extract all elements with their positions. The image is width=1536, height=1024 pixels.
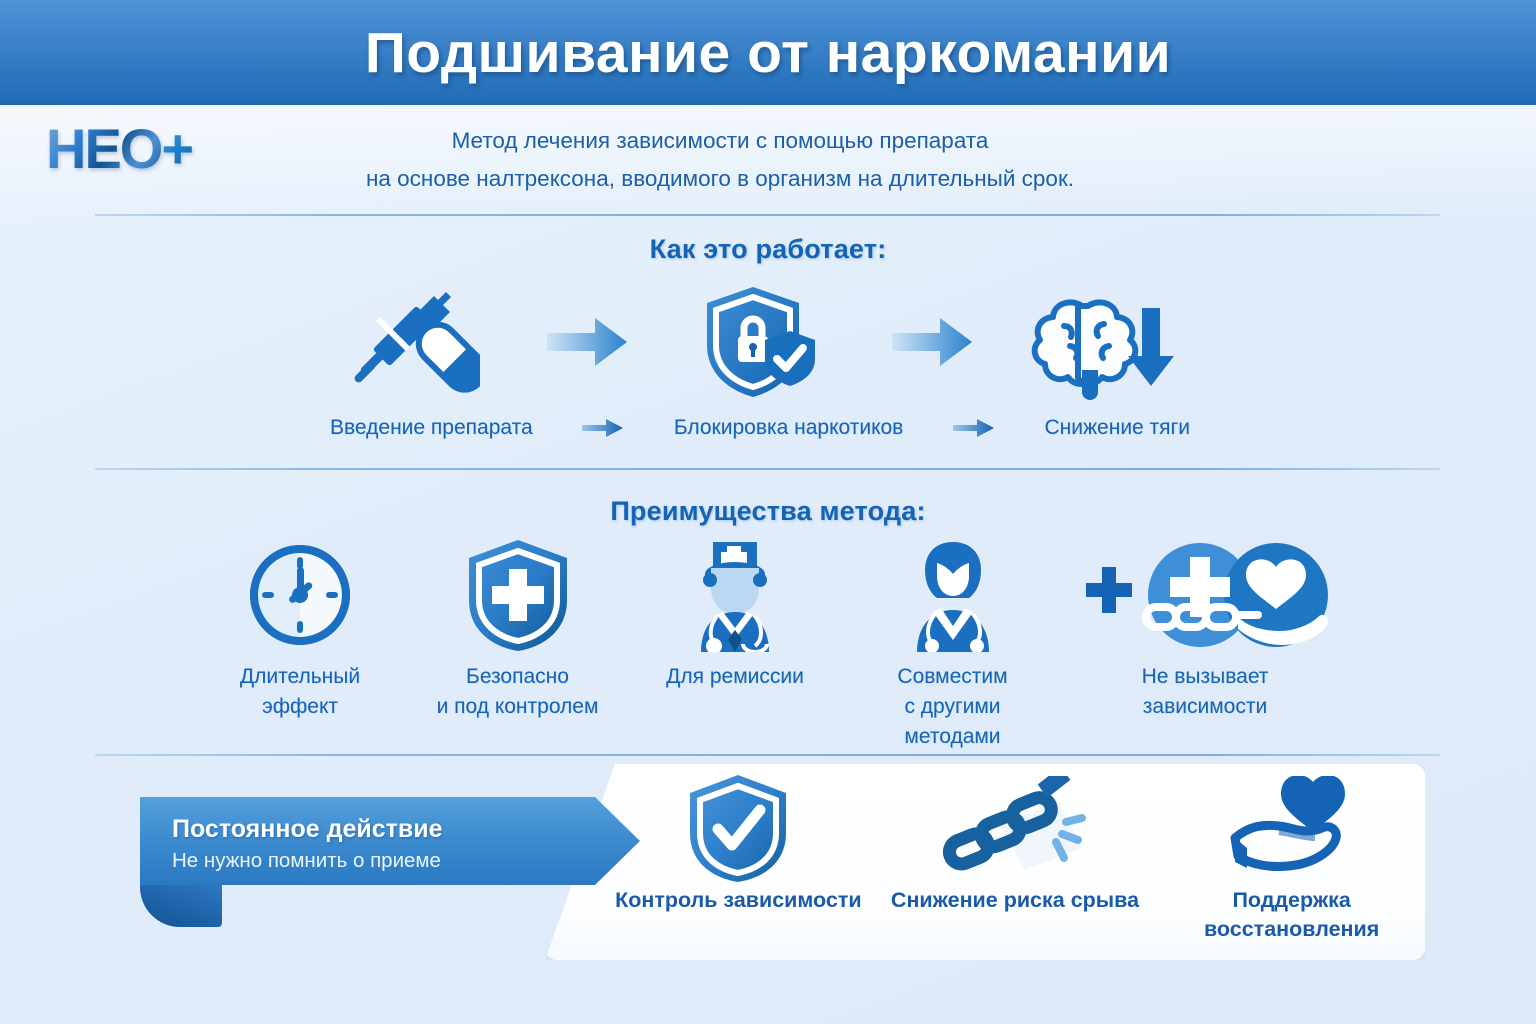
how-step-label-3: Снижение тяги (1045, 416, 1190, 440)
benefit-caption-2b: и под контролем (437, 692, 599, 722)
benefit-item-safety: Безопасно и под контролем (418, 540, 618, 722)
shield-lock-icon (685, 283, 835, 401)
panel-item-risk: Снижение риска срыва (890, 775, 1140, 915)
panel-item-control: Контроль зависимости (613, 775, 863, 915)
ribbon-tail (140, 885, 222, 927)
brain-down-arrow-icon (1030, 283, 1180, 401)
benefit-caption-5a: Не вызывает (1142, 662, 1269, 692)
chain-heart-circles-icon (1080, 540, 1330, 650)
benefit-caption-5b: зависимости (1142, 692, 1269, 722)
benefit-caption-4c: методами (897, 722, 1007, 752)
ribbon-title: Постоянное действие (172, 813, 592, 846)
label-arrow-1-icon (580, 418, 626, 438)
doctor-icon (683, 540, 787, 650)
panel-caption-2: Снижение риска срыва (891, 886, 1139, 915)
intro-text: Метод лечения зависимости с помощью преп… (300, 122, 1140, 198)
benefit-caption-2a: Безопасно (437, 662, 599, 692)
logo-word: НЕО (46, 118, 161, 180)
benefit-caption-3: Для ремиссии (666, 662, 804, 692)
intro-line-2: на основе налтрексона, вводимого в орган… (300, 160, 1140, 198)
panel-caption-3a: Поддержка (1204, 886, 1379, 915)
divider-2 (95, 468, 1440, 470)
benefit-caption-4a: Совместим (897, 662, 1007, 692)
benefit-item-remission: Для ремиссии (635, 540, 835, 692)
how-it-works-title: Как это работает: (0, 234, 1536, 265)
hand-heart-icon (1229, 775, 1355, 880)
syringe-pill-icon (340, 283, 490, 401)
ribbon-text: Постоянное действие Не нужно помнить о п… (172, 813, 592, 876)
how-it-works-icons (340, 282, 1180, 402)
how-step-label-2: Блокировка наркотиков (674, 416, 904, 440)
clock-icon (248, 540, 352, 650)
divider-3 (95, 754, 1440, 756)
label-arrow-2-icon (951, 418, 997, 438)
shield-cross-icon (464, 540, 572, 650)
benefit-item-duration: Длительный эффект (200, 540, 400, 722)
infographic-page: Подшивание от наркомании НЕО+ Метод лече… (0, 0, 1536, 1024)
bottom-panel-items: Контроль зависимости (600, 775, 1430, 960)
benefit-item-compatible: Совместим с другими методами (853, 540, 1053, 752)
brand-logo: НЕО+ (46, 118, 246, 180)
how-step-label-1: Введение препарата (330, 416, 533, 440)
breaking-chain-icon (940, 775, 1090, 880)
page-title: Подшивание от наркомании (365, 20, 1171, 86)
panel-caption-3b: восстановления (1204, 915, 1379, 944)
logo-plus-icon: + (161, 118, 192, 180)
intro-line-1: Метод лечения зависимости с помощью преп… (300, 122, 1140, 160)
benefits-row: Длительный эффект Безопасно и п (200, 540, 1340, 740)
panel-item-support: Поддержка восстановления (1167, 775, 1417, 944)
physician-icon (901, 540, 1005, 650)
benefit-item-nonaddictive: Не вызывает зависимости (1070, 540, 1340, 722)
benefit-caption-4b: с другими (897, 692, 1007, 722)
flow-arrow-1-icon (543, 312, 633, 372)
page-header: Подшивание от наркомании (0, 0, 1536, 105)
plus-sign-icon (1086, 567, 1132, 613)
benefit-caption-1: Длительный эффект (200, 662, 400, 722)
how-it-works-labels: Введение препарата Блокировка наркотиков… (330, 408, 1190, 448)
flow-arrow-2-icon (888, 312, 978, 372)
divider-1 (95, 214, 1440, 216)
shield-check-icon (686, 775, 790, 880)
benefits-title: Преимущества метода: (0, 496, 1536, 527)
ribbon-subtitle: Не нужно помнить о приеме (172, 846, 592, 876)
panel-caption-1: Контроль зависимости (615, 886, 862, 915)
